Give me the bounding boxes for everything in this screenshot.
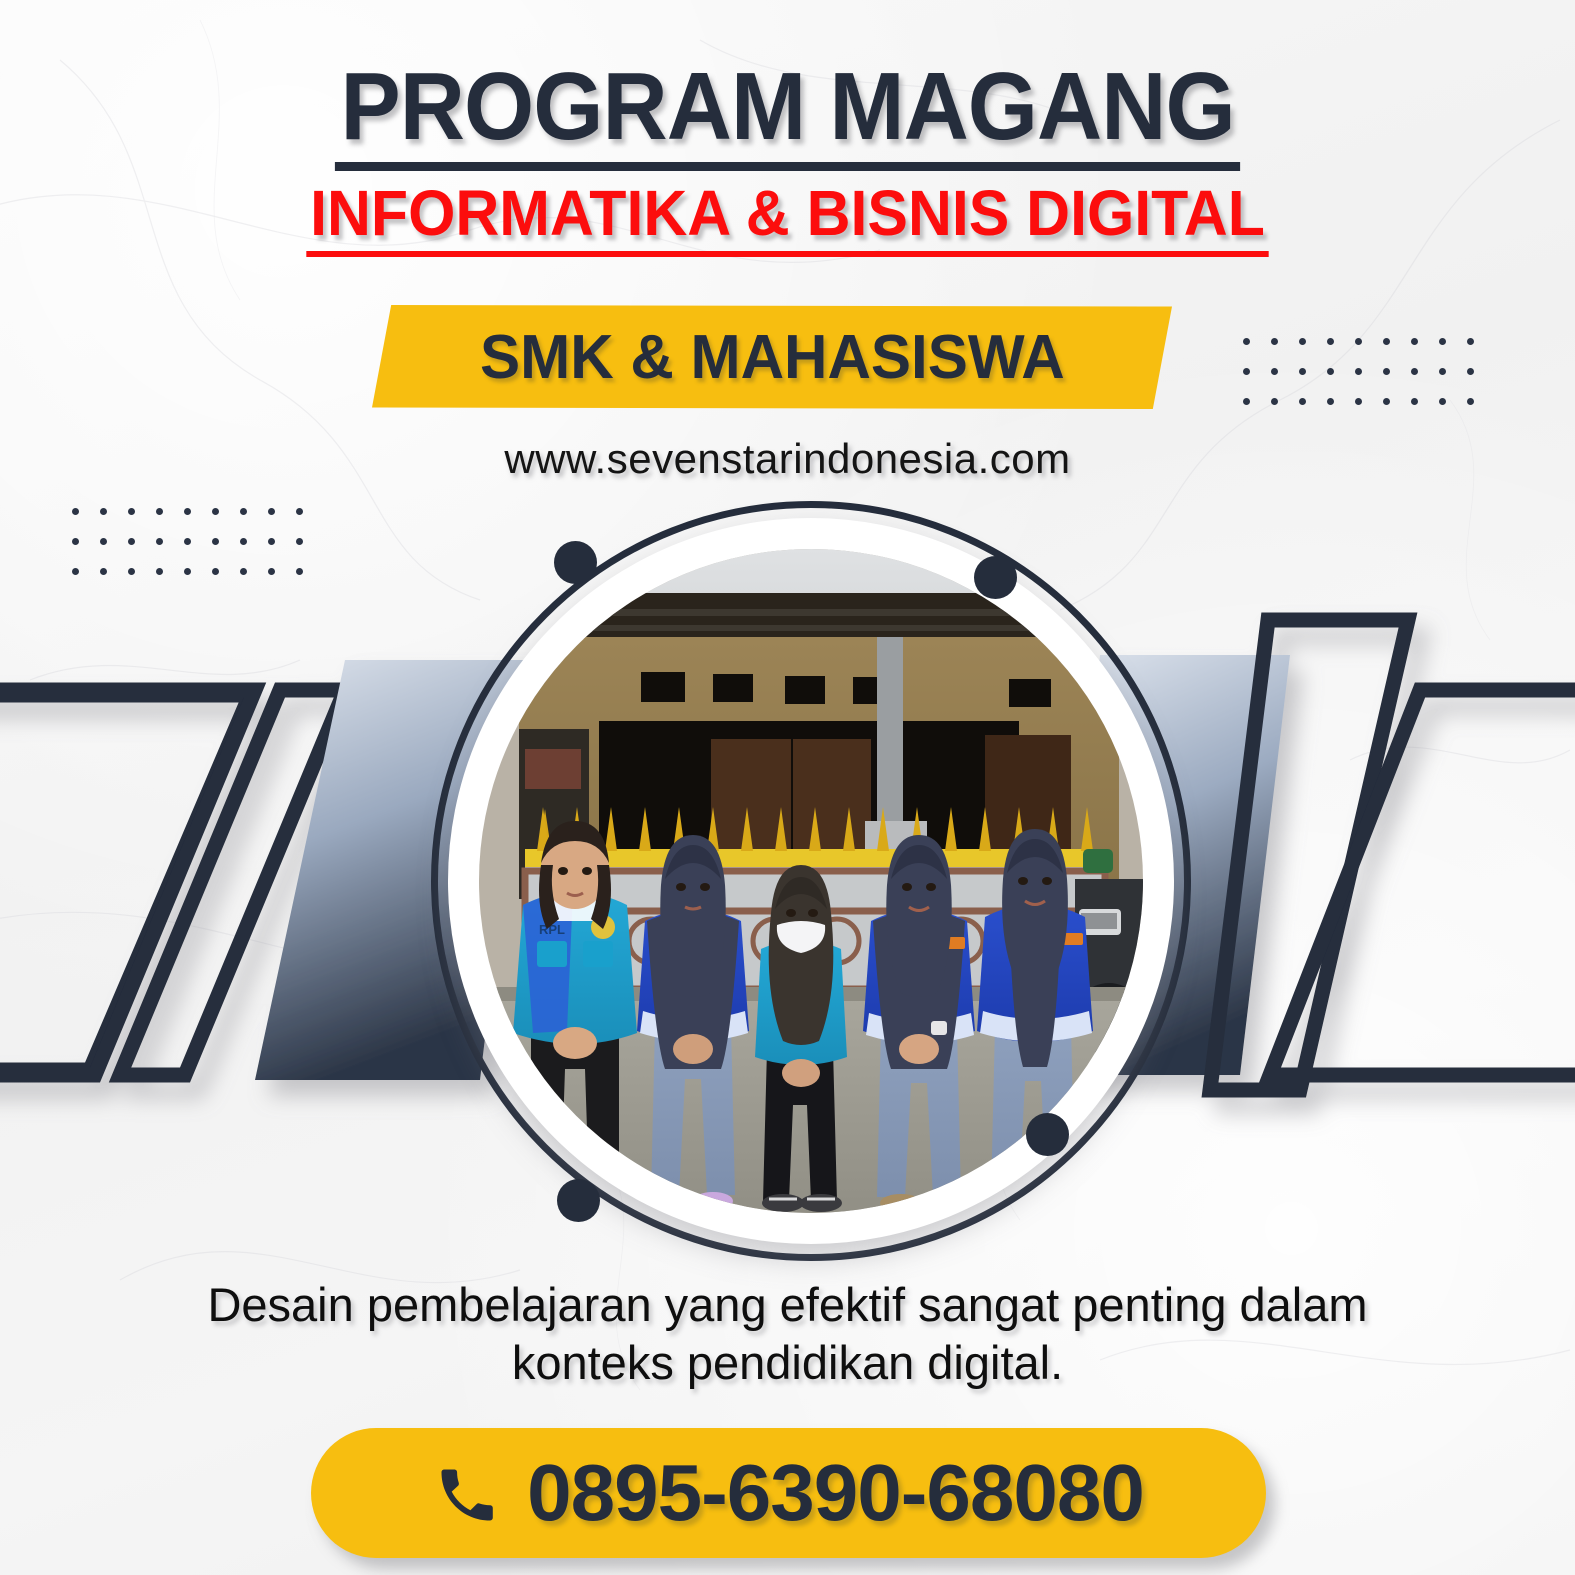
- grid-dot: [1299, 368, 1306, 375]
- grid-dot: [1383, 398, 1390, 405]
- grid-dot: [1243, 368, 1250, 375]
- grid-dot: [240, 568, 247, 575]
- poster-canvas: PROGRAM MAGANG INFORMATIKA & BISNIS DIGI…: [0, 0, 1575, 1575]
- grid-dot: [1243, 398, 1250, 405]
- grid-dot: [1355, 338, 1362, 345]
- dot-grid-left: [72, 508, 312, 588]
- grid-dot: [240, 538, 247, 545]
- grid-dot: [1439, 368, 1446, 375]
- grid-dot: [1355, 368, 1362, 375]
- headline-container: PROGRAM MAGANG: [0, 58, 1575, 171]
- grid-dot: [1383, 338, 1390, 345]
- grid-dot: [1299, 338, 1306, 345]
- grid-dot: [212, 508, 219, 515]
- dot-grid-right: [1243, 338, 1483, 418]
- grid-dot: [1327, 368, 1334, 375]
- subheadline-container: INFORMATIKA & BISNIS DIGITAL: [0, 180, 1575, 257]
- grid-dot: [184, 568, 191, 575]
- grid-dot: [1299, 398, 1306, 405]
- grid-dot: [212, 538, 219, 545]
- grid-dot: [1271, 338, 1278, 345]
- grid-dot: [156, 568, 163, 575]
- grid-dot: [296, 508, 303, 515]
- grid-dot: [240, 508, 247, 515]
- grid-dot: [72, 568, 79, 575]
- grid-dot: [156, 508, 163, 515]
- ring-node-top-left: [554, 541, 597, 584]
- grid-dot: [268, 568, 275, 575]
- grid-dot: [1327, 398, 1334, 405]
- phone-cta-button[interactable]: 0895-6390-68080: [311, 1428, 1266, 1558]
- grid-dot: [1355, 398, 1362, 405]
- grid-dot: [1411, 368, 1418, 375]
- phone-handset-icon: [433, 1461, 501, 1529]
- grid-dot: [1467, 398, 1474, 405]
- audience-banner-label: SMK & MAHASISWA: [480, 322, 1065, 393]
- grid-dot: [1383, 368, 1390, 375]
- grid-dot: [1271, 368, 1278, 375]
- ring-node-bottom-right: [1026, 1113, 1069, 1156]
- audience-banner: SMK & MAHASISWA: [372, 305, 1172, 409]
- photo-frame: RPL: [431, 501, 1191, 1261]
- grid-dot: [184, 538, 191, 545]
- grid-dot: [1327, 338, 1334, 345]
- subheadline-text: INFORMATIKA & BISNIS DIGITAL: [306, 180, 1268, 257]
- grid-dot: [1411, 338, 1418, 345]
- grid-dot: [268, 508, 275, 515]
- grid-dot: [1439, 398, 1446, 405]
- grid-dot: [72, 538, 79, 545]
- grid-dot: [1467, 368, 1474, 375]
- headline-text: PROGRAM MAGANG: [335, 58, 1240, 171]
- grid-dot: [268, 538, 275, 545]
- ring-node-bottom-left: [557, 1179, 600, 1222]
- grid-dot: [184, 508, 191, 515]
- grid-dot: [1411, 398, 1418, 405]
- ring-node-top-right: [974, 556, 1017, 599]
- grid-dot: [296, 538, 303, 545]
- grid-dot: [212, 568, 219, 575]
- grid-dot: [1271, 398, 1278, 405]
- grid-dot: [156, 538, 163, 545]
- grid-dot: [128, 568, 135, 575]
- grid-dot: [1243, 338, 1250, 345]
- grid-dot: [128, 508, 135, 515]
- website-url[interactable]: www.sevenstarindonesia.com: [0, 435, 1575, 483]
- grid-dot: [100, 508, 107, 515]
- grid-dot: [128, 538, 135, 545]
- grid-dot: [1439, 338, 1446, 345]
- grid-dot: [296, 568, 303, 575]
- grid-dot: [100, 538, 107, 545]
- grid-dot: [100, 568, 107, 575]
- tagline-text: Desain pembelajaran yang efektif sangat …: [150, 1276, 1425, 1393]
- grid-dot: [72, 508, 79, 515]
- grid-dot: [1467, 338, 1474, 345]
- phone-number-text: 0895-6390-68080: [527, 1447, 1144, 1539]
